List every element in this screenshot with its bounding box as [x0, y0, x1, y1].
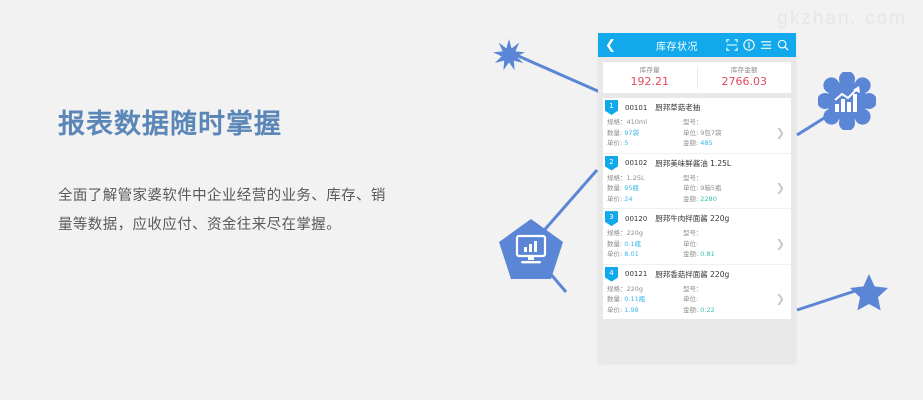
label-amount: 金额: — [683, 306, 698, 314]
value-price: 8.01 — [624, 250, 638, 258]
page-root: gkzhan. com 报表数据随时掌握 全面了解管家婆软件中企业经营的业务、库… — [0, 0, 923, 400]
label-price: 单价: — [607, 195, 622, 203]
label-spec: 规格： — [607, 285, 627, 293]
search-icon[interactable] — [777, 39, 789, 51]
inventory-list: 1 00101 厨邦草菇老抽 规格：410ml 数量: 97袋 单价: 5 型号… — [603, 98, 791, 319]
list-icon[interactable] — [760, 39, 772, 51]
summary-stock-amount: 库存金额 2766.03 — [697, 66, 792, 89]
app-title: 库存状况 — [616, 38, 726, 53]
row-code: 00121 — [625, 270, 647, 278]
label-qty: 数量: — [607, 240, 622, 248]
label-qty: 数量: — [607, 129, 622, 137]
row-index-badge: 2 — [605, 156, 618, 171]
row-index-badge: 1 — [605, 100, 618, 115]
row-index-badge: 3 — [605, 211, 618, 226]
chevron-right-icon[interactable]: ❯ — [776, 183, 785, 194]
list-item[interactable]: 1 00101 厨邦草菇老抽 规格：410ml 数量: 97袋 单价: 5 型号… — [603, 98, 791, 153]
star-icon — [849, 272, 889, 312]
row-code: 00101 — [625, 104, 647, 112]
label-unit: 单位: — [683, 295, 698, 303]
list-item[interactable]: 4 00121 厨邦香菇拌面酱 220g 规格：220g 数量: 0.11瓶 单… — [603, 264, 791, 320]
value-spec: 220g — [627, 229, 644, 237]
row-code: 00120 — [625, 215, 647, 223]
value-amount: 485 — [700, 139, 712, 147]
value-qty: 97袋 — [624, 129, 639, 137]
label-price: 单价: — [607, 250, 622, 258]
value-price: 1.98 — [624, 306, 638, 314]
value-qty: 0.1瓶 — [624, 240, 641, 248]
chevron-right-icon[interactable]: ❯ — [776, 294, 785, 305]
label-price: 单价: — [607, 139, 622, 147]
label-model: 型号： — [683, 285, 703, 293]
row-name: 厨邦牛肉拌面酱 220g — [655, 213, 729, 224]
value-qty: 95瓶 — [624, 184, 639, 192]
label-model: 型号： — [683, 174, 703, 182]
label-model: 型号： — [683, 229, 703, 237]
label-price: 单价: — [607, 306, 622, 314]
info-circle-icon[interactable] — [743, 39, 755, 51]
chevron-right-icon[interactable]: ❯ — [776, 127, 785, 138]
label-model: 型号： — [683, 118, 703, 126]
label-spec: 规格： — [607, 118, 627, 126]
value-unit: 9包7袋 — [700, 129, 721, 137]
row-code: 00102 — [625, 159, 647, 167]
label-unit: 单位: — [683, 129, 698, 137]
value-spec: 220g — [627, 285, 644, 293]
summary-label: 库存金额 — [698, 66, 792, 74]
summary-label: 库存量 — [603, 66, 697, 74]
value-spec: 1.25L — [627, 174, 645, 182]
row-name: 厨邦香菇拌面酱 220g — [655, 269, 729, 280]
value-price: 24 — [624, 195, 632, 203]
value-amount: 2280 — [700, 195, 717, 203]
row-index-badge: 4 — [605, 267, 618, 282]
label-unit: 单位: — [683, 240, 698, 248]
value-spec: 410ml — [627, 118, 648, 126]
value-price: 5 — [624, 139, 628, 147]
summary-card: 库存量 192.21 库存金额 2766.03 — [603, 62, 791, 93]
label-amount: 金额: — [683, 139, 698, 147]
row-name: 厨邦美味鲜酱油 1.25L — [655, 158, 731, 169]
value-unit: 9箱5瓶 — [700, 184, 721, 192]
scan-icon[interactable] — [726, 39, 738, 51]
list-item[interactable]: 3 00120 厨邦牛肉拌面酱 220g 规格：220g 数量: 0.1瓶 单价… — [603, 208, 791, 264]
label-amount: 金额: — [683, 250, 698, 258]
phone-mockup: ❮ 库存状况 — [598, 33, 796, 363]
label-qty: 数量: — [607, 184, 622, 192]
label-spec: 规格： — [607, 229, 627, 237]
label-qty: 数量: — [607, 295, 622, 303]
label-unit: 单位: — [683, 184, 698, 192]
list-item[interactable]: 2 00102 厨邦美味鲜酱油 1.25L 规格：1.25L 数量: 95瓶 单… — [603, 153, 791, 209]
monitor-chart-icon — [498, 218, 564, 282]
bar-chart-icon — [818, 72, 876, 130]
summary-value: 2766.03 — [698, 75, 792, 89]
chevron-right-icon[interactable]: ❯ — [776, 238, 785, 249]
value-amount: 0.81 — [700, 250, 714, 258]
app-header: ❮ 库存状况 — [598, 33, 796, 57]
sparkle-icon — [492, 38, 526, 72]
label-amount: 金额: — [683, 195, 698, 203]
summary-value: 192.21 — [603, 75, 697, 89]
label-spec: 规格： — [607, 174, 627, 182]
summary-stock-qty: 库存量 192.21 — [603, 66, 697, 89]
value-qty: 0.11瓶 — [624, 295, 645, 303]
value-amount: 0.22 — [700, 306, 714, 314]
chevron-left-icon[interactable]: ❮ — [605, 39, 616, 52]
row-name: 厨邦草菇老抽 — [655, 102, 700, 113]
